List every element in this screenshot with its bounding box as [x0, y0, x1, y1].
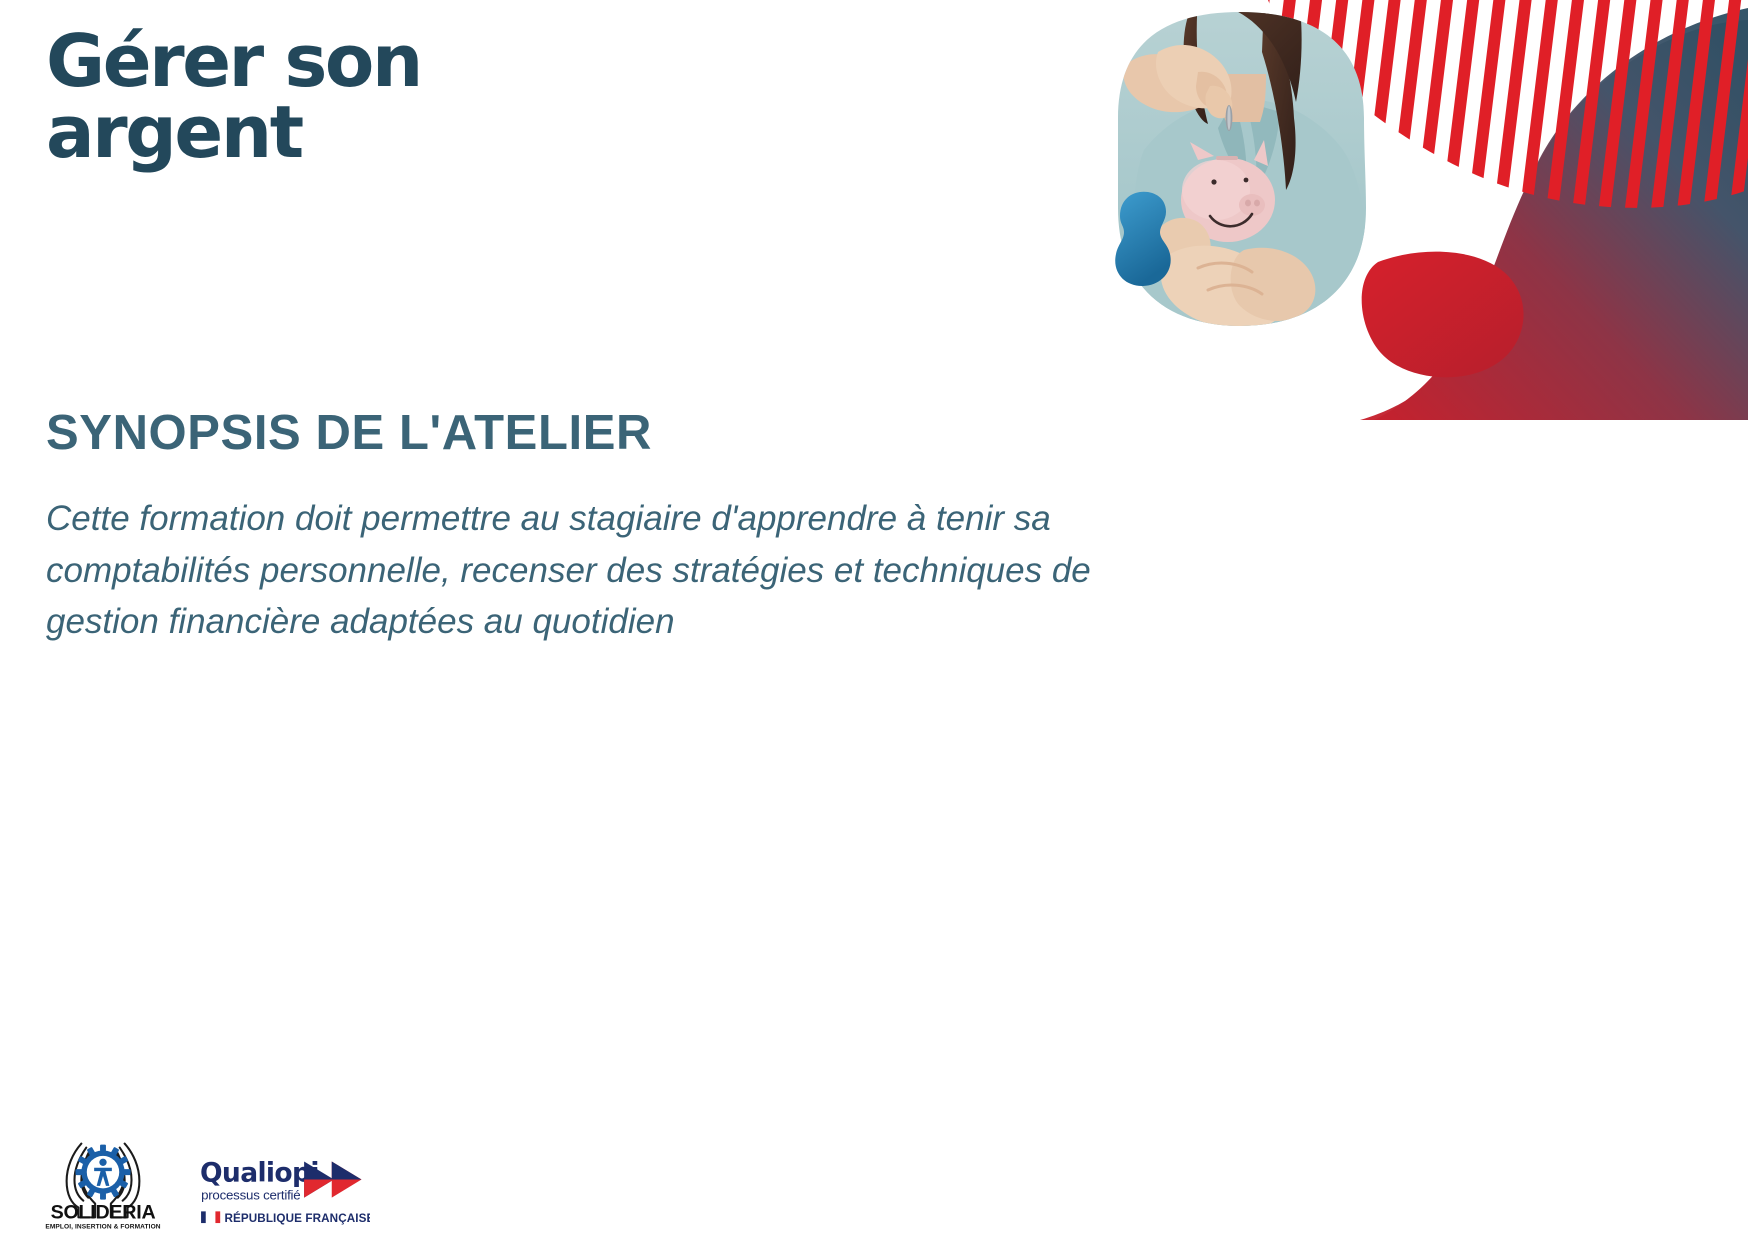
- blue-blob-shape: [1115, 192, 1170, 286]
- qualiopi-state-label: RÉPUBLIQUE FRANÇAISE: [224, 1212, 370, 1225]
- qualiopi-wordmark: Qualiopi: [200, 1158, 319, 1189]
- qualiopi-subtitle: processus certifié: [201, 1188, 300, 1203]
- solideria-wordmark: SOLIDERIA: [51, 1201, 156, 1223]
- qualiopi-logo: Qualiopi processus certifié RÉPUBLIQUE F: [200, 1154, 370, 1234]
- section-heading: SYNOPSIS DE L'ATELIER: [46, 408, 1226, 459]
- solideria-tagline: EMPLOI, INSERTION & FORMATION: [45, 1224, 160, 1231]
- section-body-text: Cette formation doit permettre au stagia…: [46, 493, 1206, 646]
- red-blob-shape: [1362, 252, 1524, 378]
- qualiopi-arrow-icon: [304, 1162, 361, 1198]
- category-label: EFFICACITE PRO ET DEVELOPPEMENT PERSO: [1558, 0, 1748, 1240]
- slide-root: Gérer son argent SYNOPSIS DE L'ATELIER C…: [0, 0, 1748, 1240]
- piggy-bank-photo: [1108, 0, 1378, 340]
- synopsis-section: SYNOPSIS DE L'ATELIER Cette formation do…: [46, 408, 1226, 647]
- french-flag-icon: [201, 1212, 220, 1224]
- deck-title: Gérer son argent: [46, 26, 666, 167]
- footer-logos: SOLIDERIA EMPLOI, INSERTION & FORMATION …: [44, 1121, 370, 1234]
- solideria-logo: SOLIDERIA EMPLOI, INSERTION & FORMATION: [44, 1121, 162, 1234]
- title-block: Gérer son argent: [46, 26, 666, 167]
